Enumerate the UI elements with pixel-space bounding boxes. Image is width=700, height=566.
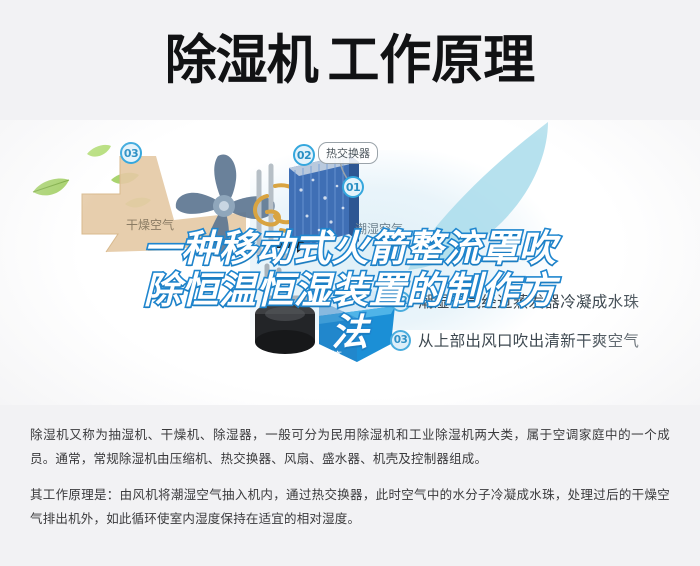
annotation-badge: 02: [390, 291, 411, 312]
body-copy: 除湿机又称为抽湿机、干燥机、除湿器，一般可分为民用除湿机和工业除湿机两大类，属于…: [0, 405, 700, 566]
page-header: 除湿机工作原理: [0, 0, 700, 120]
marker-step-02: 02: [293, 144, 315, 166]
label-water-tank: 水箱: [320, 348, 342, 364]
body-paragraph-1: 除湿机又称为抽湿机、干燥机、除湿器，一般可分为民用除湿机和工业除湿机两大类，属于…: [30, 423, 670, 472]
annotation-row: 03 从上部出风口吹出清新干爽空气: [390, 329, 639, 351]
annotation-list: 02 潮湿空气经过蒸发器冷凝成水珠 03 从上部出风口吹出清新干爽空气: [390, 290, 639, 368]
airflow-swoosh-decoration: [398, 122, 648, 272]
heat-exchanger-callout: 热交换器: [318, 142, 378, 164]
annotation-badge: 03: [390, 330, 411, 351]
page-title-part2: 工作原理: [327, 30, 535, 91]
marker-step-01: 01: [342, 176, 364, 198]
label-dry-air: 干燥空气: [126, 216, 174, 233]
annotation-text: 潮湿空气经过蒸发器冷凝成水珠: [418, 290, 639, 312]
illustration-panel: 热交换器 干燥空气 潮湿空气 水箱 03 02 01 02 潮湿空气经过蒸发器冷…: [0, 120, 700, 405]
annotation-text: 从上部出风口吹出清新干爽空气: [418, 329, 639, 351]
marker-step-03: 03: [120, 142, 142, 164]
body-paragraph-2: 其工作原理是：由风机将潮湿空气抽入机内，通过热交换器，此时空气中的水分子冷凝成水…: [30, 483, 670, 532]
page-title-part1: 除湿机: [165, 30, 318, 91]
label-humid-air: 潮湿空气: [355, 220, 403, 237]
infographic-page: 除湿机工作原理: [0, 0, 700, 566]
page-title: 除湿机工作原理: [165, 34, 535, 87]
annotation-row: 02 潮湿空气经过蒸发器冷凝成水珠: [390, 290, 639, 312]
